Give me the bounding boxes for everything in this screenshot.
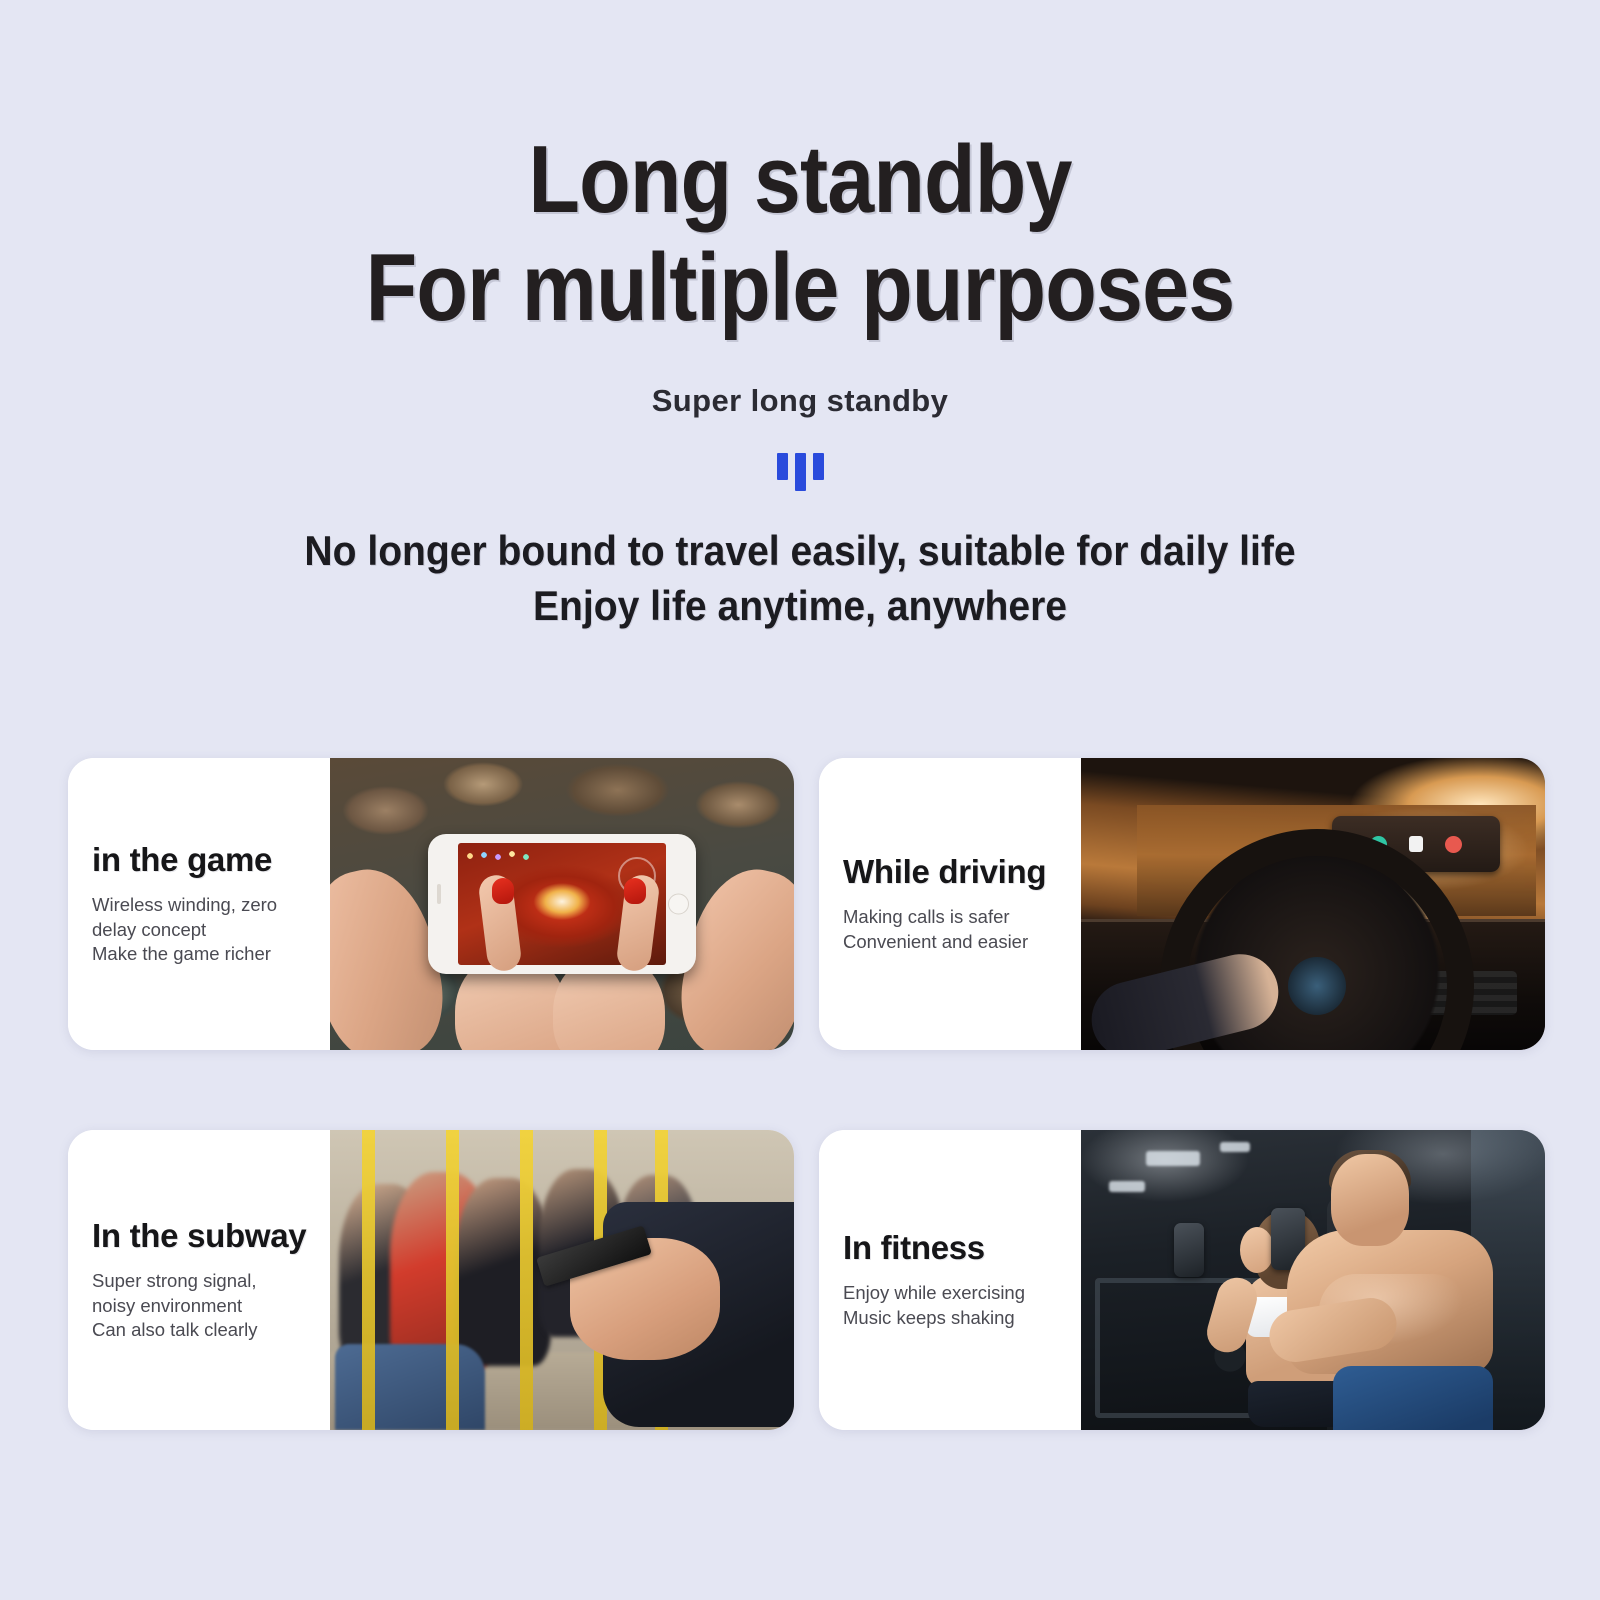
card-title: While driving: [843, 853, 1065, 891]
handrail-pole: [362, 1130, 375, 1430]
hero-description-line-1: No longer bound to travel easily, suitab…: [56, 523, 1544, 578]
ceiling-light: [1146, 1151, 1200, 1166]
handrail-pole: [520, 1130, 533, 1430]
end-call-icon: [1445, 836, 1462, 853]
page-title: Long standby For multiple purposes: [96, 126, 1504, 341]
page-title-line-2: For multiple purposes: [96, 234, 1504, 342]
card-body-line: Make the game richer: [92, 942, 314, 967]
card-body-line: noisy environment: [92, 1294, 314, 1319]
use-case-card-grid: in the game Wireless winding, zero delay…: [68, 758, 1546, 1430]
phone-speaker: [437, 884, 441, 904]
divider-bar-right: [813, 453, 824, 480]
use-case-card-in-the-subway[interactable]: In the subway Super strong signal, noisy…: [68, 1130, 794, 1430]
card-title: in the game: [92, 841, 314, 879]
card-body-line: Can also talk clearly: [92, 1318, 314, 1343]
handrail-pole: [446, 1130, 459, 1430]
card-body-line: Making calls is safer: [843, 905, 1065, 930]
ceiling-light: [1220, 1142, 1250, 1152]
card-photo-subway: [330, 1130, 794, 1430]
card-text-block: In fitness Enjoy while exercising Music …: [819, 1130, 1081, 1430]
passenger-legs: [335, 1344, 485, 1430]
divider-bar-center: [795, 453, 806, 491]
card-body-line: Super strong signal,: [92, 1269, 314, 1294]
hero-description: No longer bound to travel easily, suitab…: [56, 523, 1544, 634]
shorts: [1333, 1366, 1493, 1430]
card-body-line: Enjoy while exercising: [843, 1281, 1065, 1306]
divider-bar-left: [777, 453, 788, 480]
man-spotting: [1273, 1154, 1503, 1430]
card-body-line: Music keeps shaking: [843, 1306, 1065, 1331]
card-text-block: in the game Wireless winding, zero delay…: [68, 758, 330, 1050]
head: [1331, 1154, 1409, 1246]
card-photo-gym: [1081, 1130, 1545, 1430]
passenger: [455, 1178, 551, 1366]
use-case-card-while-driving[interactable]: While driving Making calls is safer Conv…: [819, 758, 1545, 1050]
three-bars-divider-icon: [772, 453, 828, 493]
card-body-line: Wireless winding, zero: [92, 893, 314, 918]
face: [1240, 1227, 1274, 1273]
card-row-top: in the game Wireless winding, zero delay…: [68, 758, 1546, 1050]
hero-subtitle: Super long standby: [0, 383, 1600, 419]
card-row-bottom: In the subway Super strong signal, noisy…: [68, 1130, 1546, 1430]
phone-home-button-icon: [668, 893, 689, 914]
card-title: In the subway: [92, 1217, 314, 1255]
card-photo-driving: [1081, 758, 1545, 1050]
card-title: In fitness: [843, 1229, 1065, 1267]
contact-avatar-icon: [1409, 836, 1423, 852]
use-case-card-in-the-game[interactable]: in the game Wireless winding, zero delay…: [68, 758, 794, 1050]
card-photo-mobile-gaming: [330, 758, 794, 1050]
card-body: Making calls is safer Convenient and eas…: [843, 905, 1065, 954]
hero-section: Long standby For multiple purposes Super…: [0, 0, 1600, 634]
ceiling-light: [1109, 1181, 1145, 1192]
card-body-line: Convenient and easier: [843, 930, 1065, 955]
use-case-card-in-fitness[interactable]: In fitness Enjoy while exercising Music …: [819, 1130, 1545, 1430]
card-body: Super strong signal, noisy environment C…: [92, 1269, 314, 1343]
dumbbell: [1174, 1223, 1204, 1277]
hero-description-line-2: Enjoy life anytime, anywhere: [56, 578, 1544, 633]
card-text-block: In the subway Super strong signal, noisy…: [68, 1130, 330, 1430]
card-body: Enjoy while exercising Music keeps shaki…: [843, 1281, 1065, 1330]
card-text-block: While driving Making calls is safer Conv…: [819, 758, 1081, 1050]
fingernail-left: [492, 878, 514, 904]
page-title-line-1: Long standby: [96, 126, 1504, 234]
fingernail-right: [624, 878, 646, 904]
card-body-line: delay concept: [92, 918, 314, 943]
card-body: Wireless winding, zero delay concept Mak…: [92, 893, 314, 967]
